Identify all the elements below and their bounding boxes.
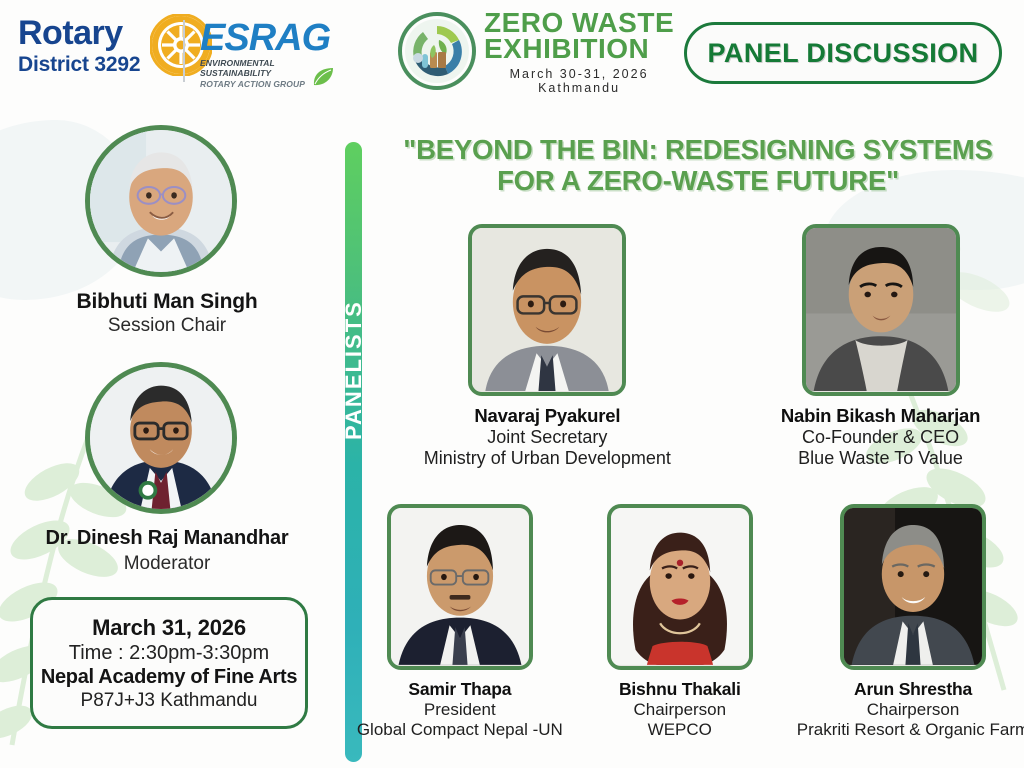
zero-waste-title-line2: EXHIBITION	[484, 36, 674, 62]
panelist-card: Arun Shrestha Chairperson Prakriti Resor…	[797, 504, 1024, 740]
dinesh-raj-manandhar-photo	[85, 362, 237, 514]
panelist-name: Nabin Bikash Maharjan	[781, 405, 980, 427]
panelists-section-label: PANELISTS	[341, 396, 367, 440]
panelist-role: Chairperson	[633, 700, 726, 720]
panelist-card: Navaraj Pyakurel Joint Secretary Ministr…	[424, 224, 671, 469]
event-info-box: March 31, 2026 Time : 2:30pm-3:30pm Nepa…	[30, 597, 308, 729]
panel-discussion-badge: PANEL DISCUSSION	[684, 22, 1002, 84]
panelists-row-top: Navaraj Pyakurel Joint Secretary Ministr…	[382, 224, 1022, 469]
rotary-wordmark: Rotary	[18, 16, 140, 50]
arun-shrestha-photo	[840, 504, 986, 670]
panelist-card: Nabin Bikash Maharjan Co-Founder & CEO B…	[781, 224, 980, 469]
panelist-name: Arun Shrestha	[854, 679, 972, 700]
exhibition-city: Kathmandu	[484, 81, 674, 95]
panelist-org: WEPCO	[648, 720, 712, 740]
panel-discussion-label: PANEL DISCUSSION	[708, 38, 979, 69]
zero-waste-text: ZERO WASTE EXHIBITION March 30-31, 2026 …	[484, 8, 674, 95]
left-column: Bibhuti Man Singh Session Chair Dr. Dine…	[0, 112, 334, 768]
panelist-role: Co-Founder & CEO	[802, 427, 959, 448]
logo-divider	[183, 20, 185, 82]
panelist-org: Global Compact Nepal -UN	[357, 720, 563, 740]
exhibition-dates: March 30-31, 2026	[484, 67, 674, 81]
panelist-role: Joint Secretary	[487, 427, 607, 448]
panel-discussion-poster: Rotary District 3292	[0, 0, 1024, 768]
esrag-tagline-line3: ROTARY ACTION GROUP	[200, 79, 330, 89]
panelist-org: Ministry of Urban Development	[424, 448, 671, 469]
panel-headline: "BEYOND THE BIN: REDESIGNING SYSTEMS FOR…	[372, 134, 1024, 197]
samir-thapa-photo	[387, 504, 533, 670]
panelist-name: Navaraj Pyakurel	[474, 405, 620, 427]
event-time: Time : 2:30pm-3:30pm	[69, 642, 269, 665]
panelist-name: Bishnu Thakali	[619, 679, 741, 700]
esrag-wordmark: ESRAG	[200, 20, 330, 56]
main-content: "BEYOND THE BIN: REDESIGNING SYSTEMS FOR…	[362, 112, 1024, 768]
panelist-card: Bishnu Thakali Chairperson WEPCO	[607, 504, 753, 740]
recycle-circle-icon	[398, 12, 476, 90]
rotary-district-label: District 3292	[18, 54, 140, 75]
esrag-tagline-line1: ENVIRONMENTAL	[200, 58, 330, 68]
panelist-card: Samir Thapa President Global Compact Nep…	[357, 504, 563, 740]
rotary-logo-text: Rotary District 3292	[18, 16, 140, 75]
moderator-name: Dr. Dinesh Raj Manandhar	[0, 527, 334, 550]
panelists-row-bottom: Samir Thapa President Global Compact Nep…	[362, 504, 1024, 740]
session-chair-name: Bibhuti Man Singh	[0, 290, 334, 314]
panelist-name: Samir Thapa	[408, 679, 511, 700]
nabin-bikash-maharjan-photo	[802, 224, 960, 396]
panelist-role: President	[424, 700, 496, 720]
navaraj-pyakurel-photo	[468, 224, 626, 396]
session-chair-role: Session Chair	[0, 315, 334, 337]
event-venue: Nepal Academy of Fine Arts	[41, 666, 297, 689]
leaf-icon	[312, 67, 334, 87]
poster-header: Rotary District 3292	[0, 0, 1024, 112]
moderator-role: Moderator	[0, 553, 334, 575]
bibhuti-man-singh-photo	[85, 125, 237, 277]
panelist-org: Prakriti Resort & Organic Farm	[797, 720, 1024, 740]
panelist-role: Chairperson	[867, 700, 960, 720]
zero-waste-exhibition-logo: ZERO WASTE EXHIBITION March 30-31, 2026 …	[398, 8, 674, 95]
panelist-org: Blue Waste To Value	[798, 448, 963, 469]
esrag-tagline-line2: SUSTAINABILITY	[200, 68, 330, 78]
event-address: P87J+J3 Kathmandu	[81, 690, 258, 712]
bishnu-thakali-photo	[607, 504, 753, 670]
event-date: March 31, 2026	[92, 615, 246, 641]
esrag-logo: ESRAG ENVIRONMENTAL SUSTAINABILITY ROTAR…	[200, 20, 330, 89]
esrag-tagline: ENVIRONMENTAL SUSTAINABILITY ROTARY ACTI…	[200, 58, 330, 89]
